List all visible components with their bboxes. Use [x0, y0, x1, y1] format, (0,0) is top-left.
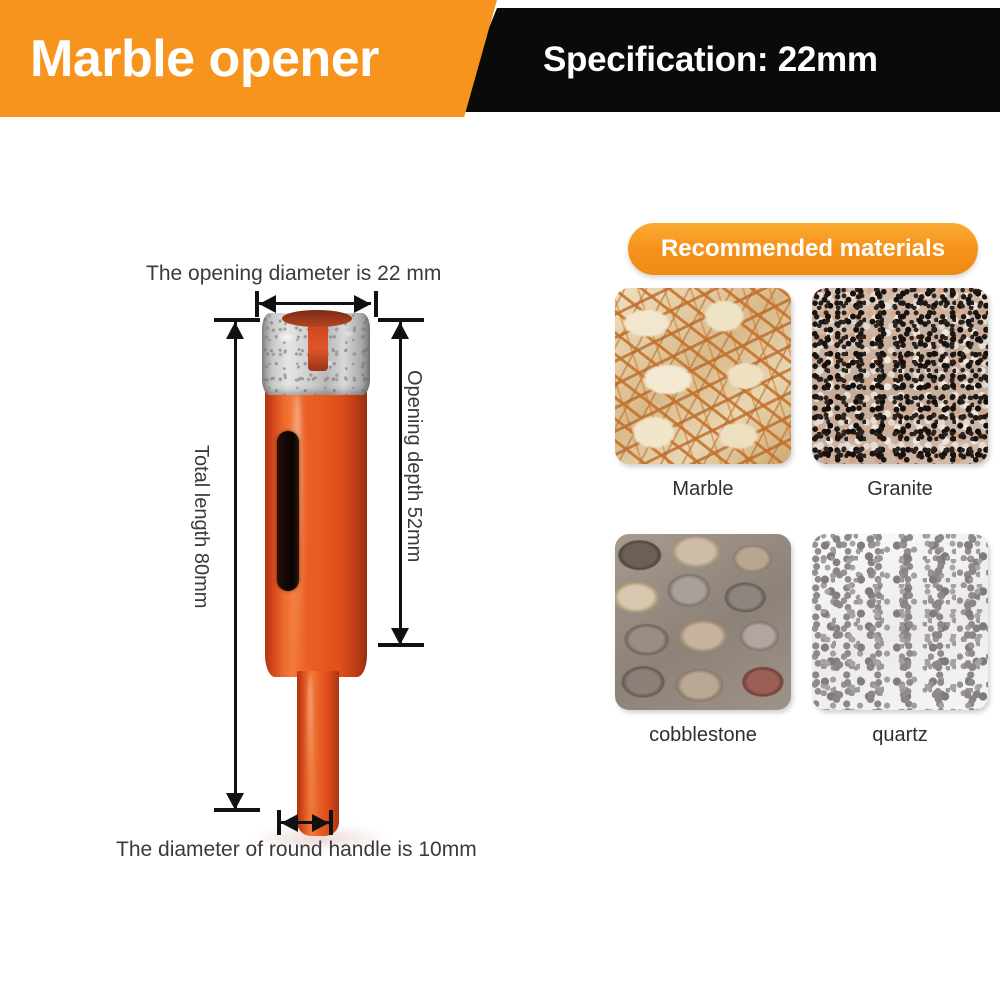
cobblestone-texture-image [615, 534, 791, 710]
diameter-tick-right [374, 291, 378, 317]
recommended-materials-panel: Recommended materials Marble Granite cob… [610, 210, 990, 780]
bit-diamond-crown [262, 313, 370, 395]
handle-arrow-left [281, 814, 298, 832]
opening-diameter-caption: The opening diameter is 22 mm [146, 262, 441, 286]
total-length-arrow-top [226, 322, 244, 339]
total-length-label: Total length 80mm [189, 445, 212, 608]
total-length-dimension-line [234, 322, 237, 810]
handle-tick-right [329, 810, 333, 835]
bit-body [265, 387, 367, 677]
recommended-materials-badge: Recommended materials [628, 223, 978, 275]
material-swatch-cobblestone[interactable]: cobblestone [615, 534, 791, 747]
material-swatch-marble[interactable]: Marble [615, 288, 791, 501]
granite-texture-image [812, 288, 988, 464]
marble-texture-image [615, 288, 791, 464]
total-length-arrow-bottom [226, 793, 244, 810]
bit-shank-highlight [307, 676, 313, 831]
marble-label: Marble [615, 478, 791, 501]
recommended-materials-label: Recommended materials [628, 235, 978, 263]
granite-label: Granite [812, 478, 988, 501]
dimension-diagram: The opening diameter is 22 mm [0, 125, 600, 1000]
material-swatch-quartz[interactable]: quartz [812, 534, 988, 747]
opening-depth-label: Opening depth 52mm [402, 370, 425, 562]
product-infographic: Specification: 22mm Marble opener The op… [0, 0, 1000, 1000]
handle-diameter-caption: The diameter of round handle is 10mm [116, 838, 477, 862]
material-swatch-granite[interactable]: Granite [812, 288, 988, 501]
title-banner: Marble opener [0, 0, 497, 117]
specification-banner: Specification: 22mm [455, 8, 1000, 112]
quartz-label: quartz [812, 724, 988, 747]
diameter-arrow-right [354, 295, 371, 313]
handle-arrow-right [312, 814, 329, 832]
bit-dust-slot [277, 431, 299, 591]
opening-depth-arrow-top [391, 322, 409, 339]
opening-depth-arrow-bottom [391, 628, 409, 645]
header-banner: Specification: 22mm Marble opener [0, 0, 1000, 125]
specification-label: Specification: 22mm [543, 40, 878, 80]
quartz-texture-image [812, 534, 988, 710]
diameter-arrow-left [259, 295, 276, 313]
page-title: Marble opener [30, 29, 379, 89]
cobblestone-label: cobblestone [615, 724, 791, 747]
crown-bore-opening [282, 310, 352, 327]
